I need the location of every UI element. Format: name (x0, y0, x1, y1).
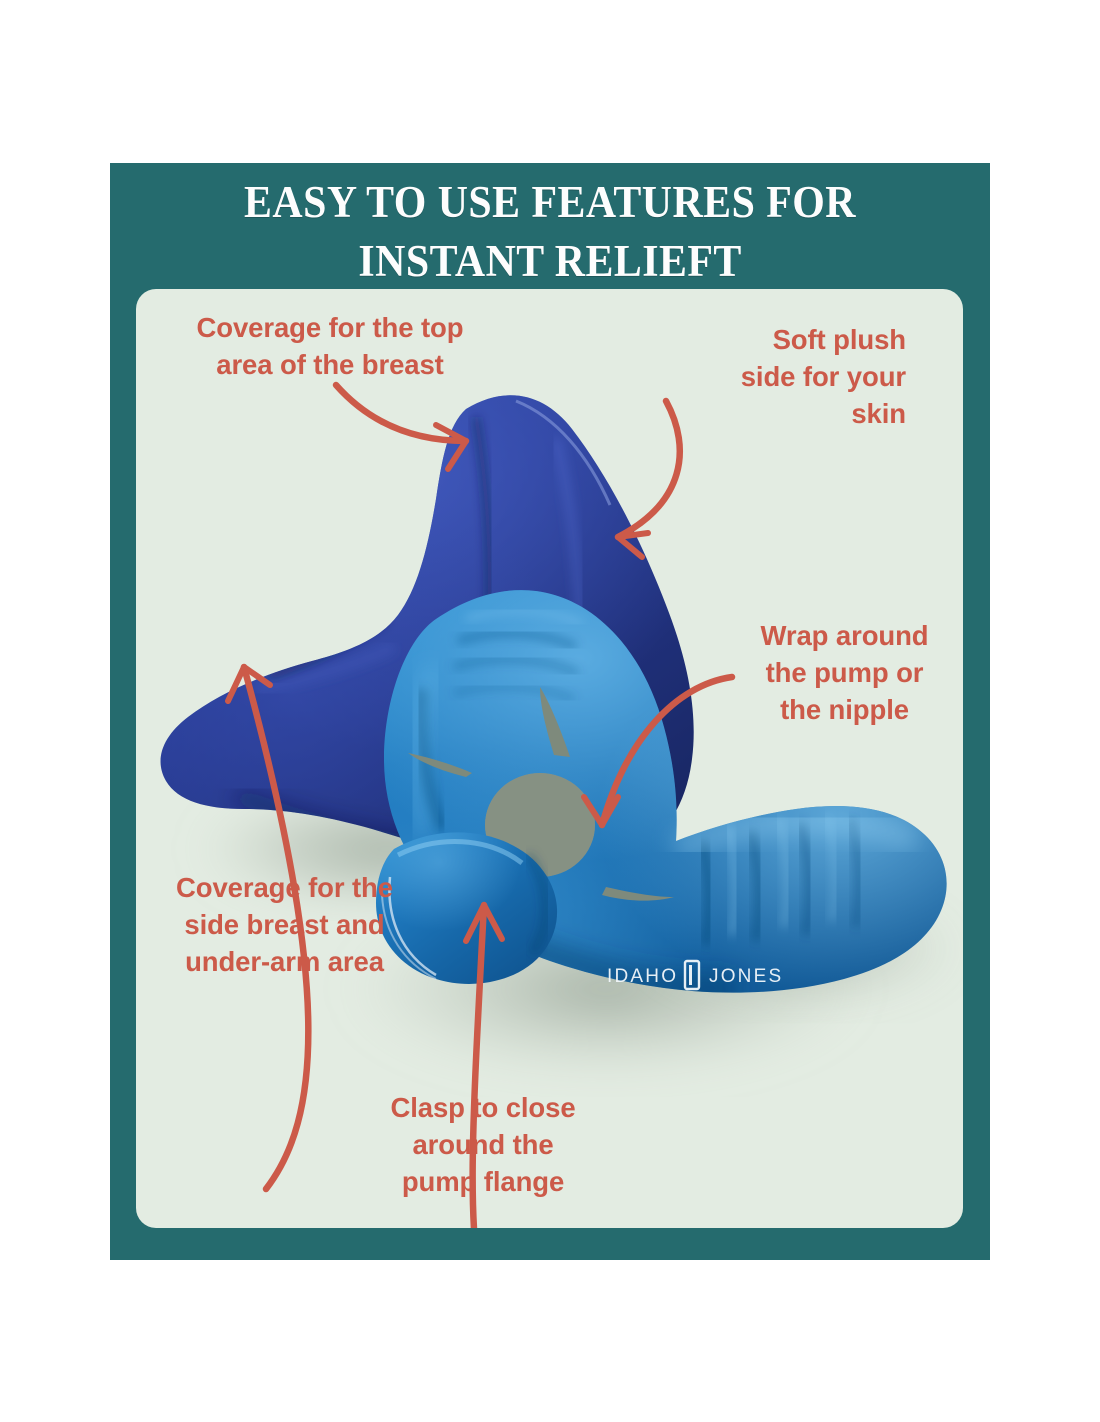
brand-text-right: JONES (709, 966, 783, 987)
content-panel: IDAHO JONES Coverage for (136, 289, 963, 1228)
annotation-top-coverage: Coverage for the top area of the breast (150, 309, 510, 383)
brand-text-left: IDAHO (607, 966, 678, 987)
annotation-side-coverage: Coverage for the side breast and under-a… (142, 869, 427, 980)
annotation-clasp: Clasp to close around the pump flange (338, 1089, 628, 1200)
title-line-1: EASY TO USE FEATURES FOR (244, 173, 856, 232)
page-title: EASY TO USE FEATURES FOR INSTANT RELIEFT (110, 163, 990, 293)
annotation-wrap-around: Wrap around the pump or the nipple (722, 617, 963, 728)
title-line-2: INSTANT RELIEFT (358, 232, 741, 291)
annotation-soft-plush: Soft plush side for your skin (656, 321, 906, 432)
